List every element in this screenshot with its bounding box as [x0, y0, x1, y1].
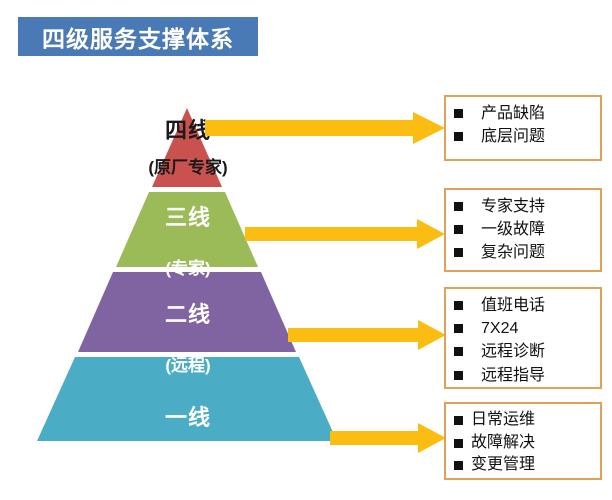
square-bullet-icon: [454, 225, 463, 234]
pyramid-tier-3-shape[interactable]: [116, 192, 258, 267]
callout-3line-list: 专家支持 一级故障 复杂问题: [454, 195, 594, 265]
callout-box-2line[interactable]: 值班电话 7X24 远程诊断 远程指导: [444, 287, 602, 389]
list-item: 底层问题: [454, 125, 594, 148]
arrow-to-3line-icon: [245, 219, 445, 254]
square-bullet-icon: [454, 439, 463, 448]
list-item: 专家支持: [454, 195, 594, 218]
list-item: 值班电话: [454, 294, 594, 317]
square-bullet-icon: [454, 324, 463, 333]
callout-box-3line[interactable]: 专家支持 一级故障 复杂问题: [444, 188, 602, 272]
callout-4line-list: 产品缺陷 底层问题: [454, 102, 594, 148]
list-item: 远程诊断: [454, 340, 594, 363]
pyramid-tier-1-shape[interactable]: [37, 357, 337, 441]
square-bullet-icon: [454, 132, 463, 141]
page-title-banner: 四级服务支撑体系: [18, 17, 258, 56]
list-item: 变更管理: [454, 454, 594, 477]
square-bullet-icon: [454, 109, 463, 118]
arrow-to-1line-icon: [330, 423, 446, 458]
pyramid-tier-2-shape[interactable]: [78, 272, 296, 352]
list-item: 一级故障: [454, 218, 594, 241]
arrow-to-2line-icon: [288, 320, 446, 355]
callout-box-4line[interactable]: 产品缺陷 底层问题: [444, 95, 602, 161]
arrow-to-4line-icon: [205, 112, 445, 149]
list-item: 7X24: [454, 317, 594, 340]
list-item: 产品缺陷: [454, 102, 594, 125]
square-bullet-icon: [454, 416, 463, 425]
page-title: 四级服务支撑体系: [42, 20, 234, 54]
list-item: 日常运维: [454, 409, 594, 432]
square-bullet-icon: [454, 461, 463, 470]
square-bullet-icon: [454, 301, 463, 310]
list-item: 远程指导: [454, 364, 594, 387]
list-item: 复杂问题: [454, 241, 594, 264]
square-bullet-icon: [454, 347, 463, 356]
list-item: 故障解决: [454, 432, 594, 455]
callout-1line-list: 日常运维 故障解决 变更管理: [454, 409, 594, 477]
square-bullet-icon: [454, 248, 463, 257]
square-bullet-icon: [454, 202, 463, 211]
square-bullet-icon: [454, 371, 463, 380]
callout-box-1line[interactable]: 日常运维 故障解决 变更管理: [444, 402, 602, 480]
callout-2line-list: 值班电话 7X24 远程诊断 远程指导: [454, 294, 594, 387]
